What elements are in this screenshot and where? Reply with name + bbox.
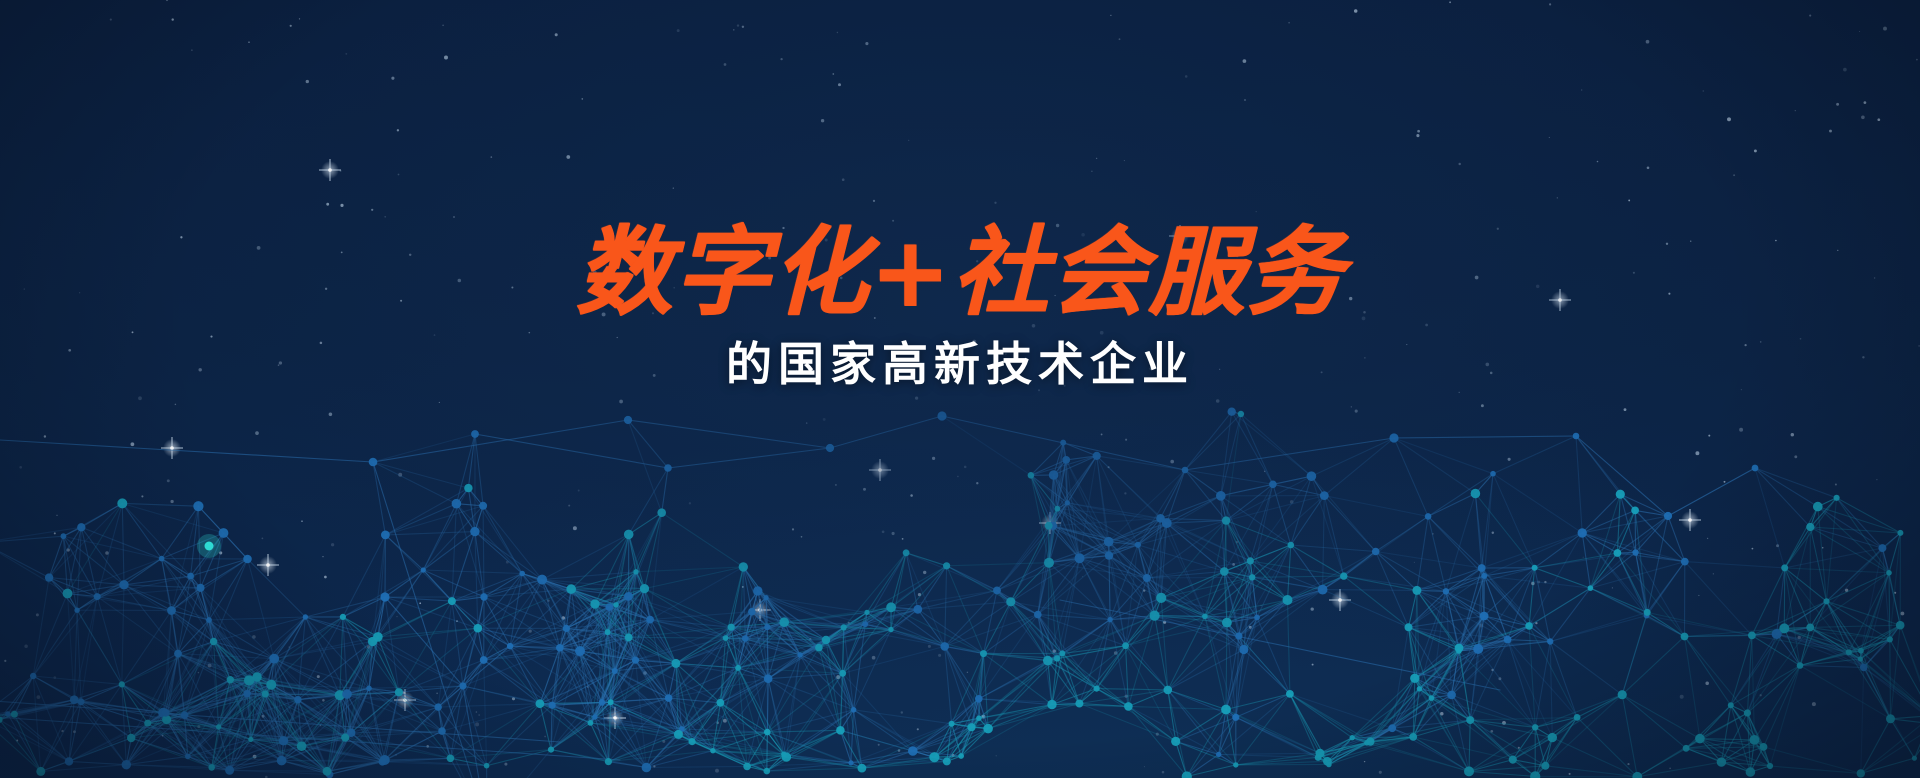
- page-subtitle: 的国家高新技术企业: [0, 337, 1920, 392]
- banner-text-block: 数字化+社会服务 的国家高新技术企业: [0, 222, 1920, 392]
- page-title: 数字化+社会服务: [0, 222, 1920, 323]
- hero-banner: 数字化+社会服务 的国家高新技术企业: [0, 0, 1920, 778]
